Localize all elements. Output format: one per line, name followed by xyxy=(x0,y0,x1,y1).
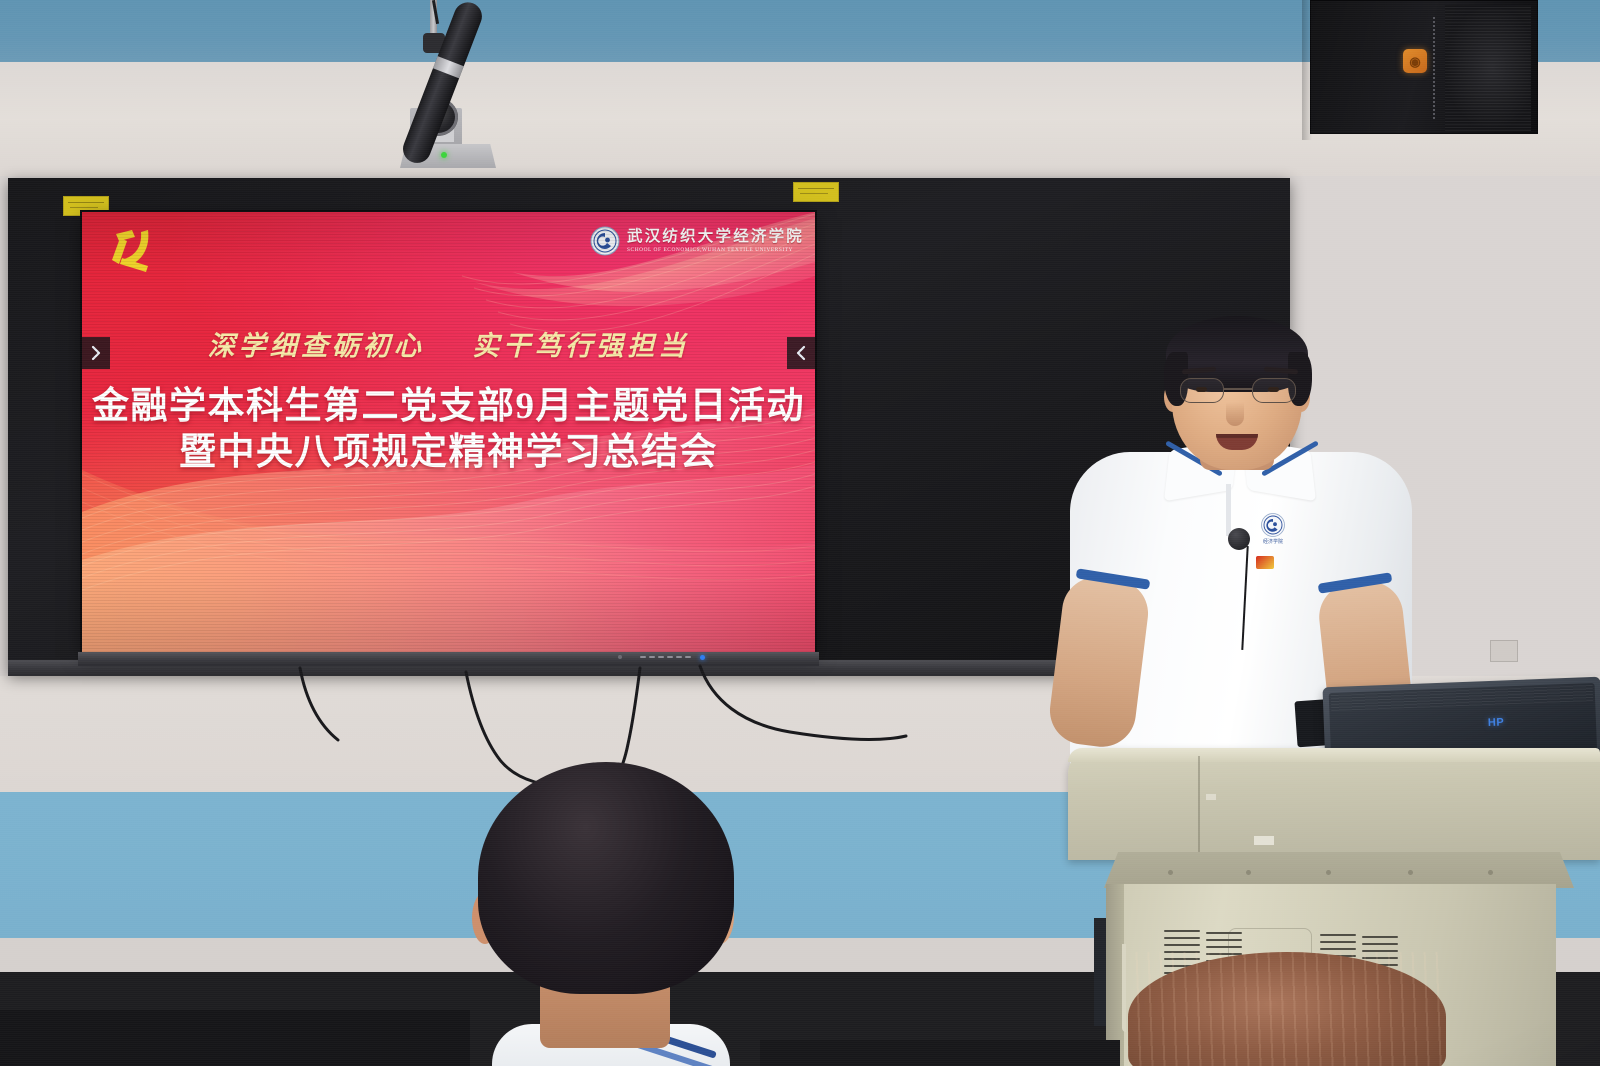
foreground-shadow-right xyxy=(760,1040,1120,1066)
foreground-shadow-left xyxy=(0,1010,470,1066)
lectern-tape-mark-2 xyxy=(1206,794,1216,800)
audience-hair xyxy=(1128,952,1446,1066)
university-logo-icon: 经济学院 xyxy=(1258,512,1288,546)
monitor-brand-label: HP xyxy=(1488,716,1505,729)
lectern-cable xyxy=(1122,944,1126,1032)
lectern-skirt xyxy=(1104,852,1574,888)
audience-member-foreground-center xyxy=(478,762,734,1066)
lectern-top-surface xyxy=(1068,748,1600,860)
audience-hair xyxy=(478,762,734,994)
party-member-badge-icon xyxy=(1256,556,1274,569)
presenter-shirt-placket xyxy=(1226,484,1231,536)
lectern-top-edge xyxy=(1068,748,1600,762)
svg-text:经济学院: 经济学院 xyxy=(1263,538,1283,545)
eyeglasses-icon xyxy=(1176,378,1300,404)
audience-member-foreground-right xyxy=(1128,952,1446,1066)
presenter-nose xyxy=(1226,402,1244,426)
classroom-scene: 武汉纺织大学经济学院 SCHOOL OF ECONOMICS,WUHAN TEX… xyxy=(0,0,1600,1066)
lectern-tape-mark-1 xyxy=(1254,836,1274,845)
lectern-seam xyxy=(1198,756,1200,852)
